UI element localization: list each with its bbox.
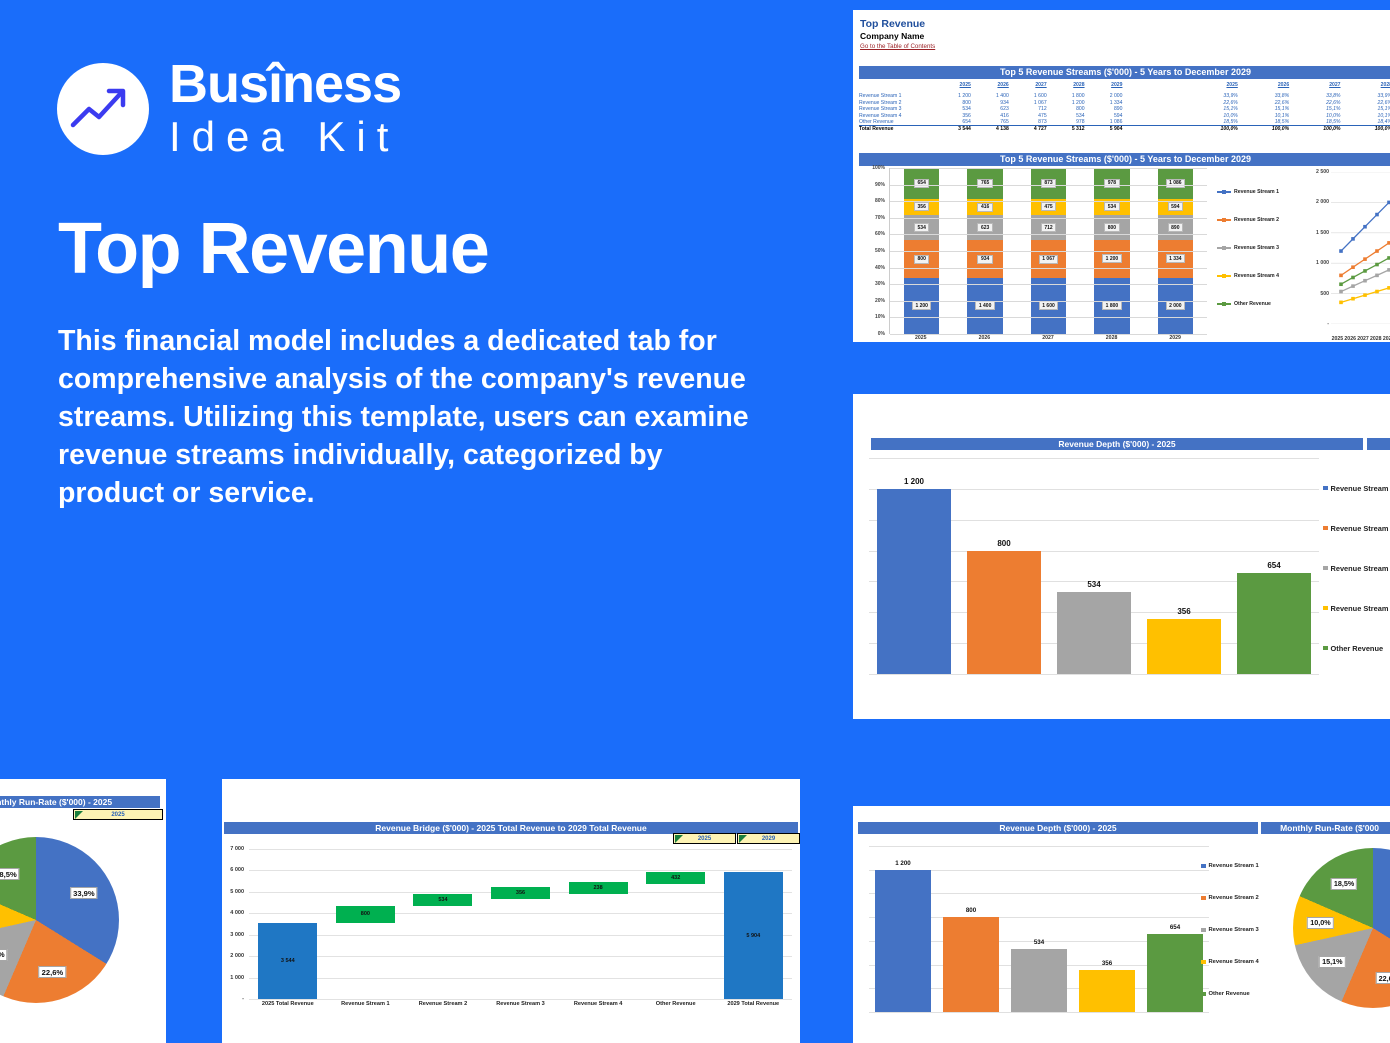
bridge-x-tick: Other Revenue xyxy=(637,1001,715,1007)
pie-data-label: 10,0% xyxy=(1307,917,1333,929)
legend-label: Other Revenue xyxy=(1209,991,1250,997)
data-label: 356 xyxy=(1102,960,1112,967)
data-label: 432 xyxy=(671,875,680,881)
line-x-tick: 2029 xyxy=(1382,336,1390,342)
data-label: 1 200 xyxy=(1102,254,1122,263)
gridline xyxy=(890,301,1207,302)
legend-item: Revenue Stream 1 xyxy=(1217,189,1303,195)
bridge-column: 534 xyxy=(404,849,482,999)
line-marker xyxy=(1363,279,1367,283)
legend-item: Revenue Stream 3 xyxy=(1217,245,1303,251)
slide-canvas: Busîness Idea Kit Top Revenue This finan… xyxy=(0,0,1390,1043)
legend-label: Revenue Stream 1 xyxy=(1234,189,1279,195)
pie-data-label: 15,1% xyxy=(1319,956,1345,968)
bar xyxy=(1147,934,1203,1012)
legend-swatch xyxy=(1201,928,1206,933)
legend-item: Other Revenue xyxy=(1323,644,1390,653)
monthly-runrate-left-panel: Monthly Run-Rate ($'000) - 2025 2025 33,… xyxy=(0,779,166,1043)
stacked-y-axis: 0%10%20%30%40%50%60%70%80%90%100% xyxy=(859,168,887,342)
runrate-right-pie: 33,9%22,6%15,1%10,0%18,5% xyxy=(1293,848,1390,1008)
bridge-y-tick: 1 000 xyxy=(222,975,244,981)
legend-swatch xyxy=(1201,960,1206,965)
gridline xyxy=(890,317,1207,318)
bridge-y-tick: 3 000 xyxy=(222,932,244,938)
bar-column: 654 xyxy=(1229,458,1319,674)
bar xyxy=(1079,970,1135,1012)
bar-column: 1 200 xyxy=(869,846,937,1012)
legend-label: Revenue Stream 2 xyxy=(1209,895,1259,901)
stacked-segment: 1 086 xyxy=(1158,168,1194,199)
bridge-y-tick: 2 000 xyxy=(222,953,244,959)
trend-line-chart: -5001 0001 5002 0002 500 202520262027202… xyxy=(1305,168,1390,342)
year-selector-left[interactable]: 2025 xyxy=(73,809,163,820)
chart-band-title: Top 5 Revenue Streams ($'000) - 5 Years … xyxy=(859,153,1390,166)
bar xyxy=(1011,949,1067,1012)
data-label: 800 xyxy=(1104,223,1119,232)
stacked-bar-chart: 0%10%20%30%40%50%60%70%80%90%100% 654356… xyxy=(859,168,1211,342)
stacked-segment: 1 200 xyxy=(1094,240,1130,277)
table-of-contents-link[interactable]: Go to the Table of Contents xyxy=(860,43,935,50)
stacked-y-tick: 30% xyxy=(875,281,885,287)
stacked-segment: 934 xyxy=(967,240,1003,277)
data-label: 800 xyxy=(997,539,1010,548)
stacked-x-tick: 2028 xyxy=(1080,335,1144,342)
page-description: This financial model includes a dedicate… xyxy=(58,322,758,512)
stacked-y-tick: 40% xyxy=(875,265,885,271)
stacked-x-tick: 2026 xyxy=(953,335,1017,342)
revenue-depth-panel: Revenue Depth ($'000) - 2025 1 200800534… xyxy=(853,394,1390,719)
stacked-segment: 890 xyxy=(1158,215,1194,240)
revenue-depth-legend: Revenue Stream 1Revenue Stream 2Revenue … xyxy=(1323,468,1390,668)
runrate-left-title: Monthly Run-Rate ($'000) - 2025 xyxy=(0,796,160,808)
data-label: 1 067 xyxy=(1039,255,1059,264)
bridge-delta-bar: 800 xyxy=(336,906,395,923)
legend-item: Revenue Stream 3 xyxy=(1201,927,1277,933)
bridge-y-tick: 5 000 xyxy=(222,889,244,895)
gridline xyxy=(869,1012,1209,1013)
bridge-y-tick: - xyxy=(222,996,244,1002)
bridge-total-bar: 5 904 xyxy=(724,872,783,999)
runrate-left-pie: 33,9%22,6%15,1%10,0%18,5% xyxy=(0,837,119,1003)
stacked-y-tick: 80% xyxy=(875,198,885,204)
revenue-depth-title: Revenue Depth ($'000) - 2025 xyxy=(871,438,1363,450)
legend-marker xyxy=(1217,275,1231,276)
line-marker xyxy=(1375,274,1379,278)
stacked-segment: 978 xyxy=(1094,168,1130,199)
line-marker xyxy=(1363,293,1367,297)
legend-swatch xyxy=(1323,526,1328,531)
pie-data-label: 18,5% xyxy=(0,868,20,880)
legend-item: Revenue Stream 2 xyxy=(1201,895,1277,901)
gridline xyxy=(890,168,1207,169)
stacked-segment: 2 000 xyxy=(1158,278,1194,334)
data-label: 1 334 xyxy=(1166,254,1186,263)
spreadsheet-panel: Top Revenue Company Name Go to the Table… xyxy=(853,10,1390,342)
bridge-x-axis: 2025 Total RevenueRevenue Stream 1Revenu… xyxy=(249,1001,792,1007)
table-row: Other Revenue 654 765 873 978 1 086 18,5… xyxy=(859,119,1390,126)
bridge-column: 238 xyxy=(559,849,637,999)
gridline xyxy=(890,284,1207,285)
line-y-tick: 1 500 xyxy=(1305,230,1329,236)
data-label: 534 xyxy=(1034,939,1044,946)
line-marker xyxy=(1351,276,1355,280)
data-label: 1 200 xyxy=(912,301,932,310)
data-label: 800 xyxy=(966,907,976,914)
title-band-tail xyxy=(1367,438,1390,450)
gridline xyxy=(890,234,1207,235)
line-marker xyxy=(1339,274,1343,278)
line-marker xyxy=(1351,284,1355,288)
line-marker xyxy=(1339,282,1343,286)
runrate-right-title: Monthly Run-Rate ($'000 xyxy=(1261,822,1390,834)
bar-column: 800 xyxy=(959,458,1049,674)
stacked-segment: 1 400 xyxy=(967,278,1003,334)
legend-item: Revenue Stream 4 xyxy=(1201,959,1277,965)
gridline xyxy=(890,218,1207,219)
bar xyxy=(877,489,951,674)
line-x-tick: 2025 xyxy=(1331,336,1344,342)
bridge-x-tick: Revenue Stream 4 xyxy=(559,1001,637,1007)
stacked-plot-area: 6543565348001 2007654166239341 400873475… xyxy=(889,168,1207,334)
line-marker xyxy=(1363,225,1367,229)
bar-column: 800 xyxy=(937,846,1005,1012)
legend-swatch xyxy=(1323,566,1328,571)
data-label: 934 xyxy=(977,255,992,264)
data-label: 654 xyxy=(914,179,929,188)
bar xyxy=(875,870,931,1012)
legend-marker xyxy=(1217,303,1231,304)
line-marker xyxy=(1363,257,1367,261)
pie-data-label: 22,6% xyxy=(39,966,67,978)
data-label: 890 xyxy=(1168,223,1183,232)
data-label: 5 904 xyxy=(746,933,760,939)
line-marker xyxy=(1351,237,1355,241)
data-label: 978 xyxy=(1104,179,1119,188)
data-label: 654 xyxy=(1170,924,1180,931)
line-marker xyxy=(1351,265,1355,269)
stacked-x-axis: 20252026202720282029 xyxy=(889,335,1207,342)
stacked-y-tick: 100% xyxy=(872,165,885,171)
line-marker xyxy=(1339,249,1343,253)
table-total-row: Total Revenue 3 544 4 138 4 727 5 312 5 … xyxy=(859,126,1390,133)
stacked-segment: 873 xyxy=(1031,168,1067,199)
stacked-segment: 623 xyxy=(967,215,1003,240)
bar-column: 1 200 xyxy=(869,458,959,674)
data-label: 534 xyxy=(1104,202,1119,211)
sheet-title: Top Revenue xyxy=(860,18,925,30)
bridge-x-tick: Revenue Stream 3 xyxy=(482,1001,560,1007)
stacked-segment: 1 800 xyxy=(1094,278,1130,334)
data-label: 800 xyxy=(914,255,929,264)
line-marker xyxy=(1351,297,1355,301)
brand-lockup: Busîness Idea Kit xyxy=(57,57,401,161)
data-label: 416 xyxy=(977,203,992,212)
data-label: 356 xyxy=(914,202,929,211)
legend-item: Other Revenue xyxy=(1201,991,1277,997)
legend-item: Revenue Stream 1 xyxy=(1323,484,1390,493)
legend-marker xyxy=(1217,191,1231,192)
data-label: 1 400 xyxy=(975,301,995,310)
line-x-tick: 2028 xyxy=(1369,336,1382,342)
stacked-segment: 534 xyxy=(904,215,940,240)
gridline xyxy=(890,268,1207,269)
gridline xyxy=(869,674,1319,675)
legend-label: Revenue Stream 3 xyxy=(1331,564,1390,573)
legend-label: Other Revenue xyxy=(1234,301,1271,307)
data-label: 356 xyxy=(1177,607,1190,616)
bar xyxy=(967,551,1041,674)
legend-swatch xyxy=(1201,896,1206,901)
revenue-depth-plot: 1 200800534356654 xyxy=(869,458,1319,674)
stacked-x-tick: 2029 xyxy=(1143,335,1207,342)
data-label: 1 200 xyxy=(895,860,910,867)
growth-arrow-chart-icon xyxy=(69,75,137,143)
data-label: 1 800 xyxy=(1102,301,1122,310)
line-y-tick: 500 xyxy=(1305,291,1329,297)
legend-marker xyxy=(1217,219,1231,220)
bar-column: 356 xyxy=(1073,846,1141,1012)
bridge-delta-bar: 356 xyxy=(491,887,550,899)
legend-marker xyxy=(1217,247,1231,248)
brand-tagline: Idea Kit xyxy=(169,113,401,161)
revenue-depth-small-title: Revenue Depth ($'000) - 2025 xyxy=(858,822,1258,834)
line-y-tick: 2 000 xyxy=(1305,199,1329,205)
bar xyxy=(1147,619,1221,674)
bar xyxy=(943,917,999,1012)
data-label: 765 xyxy=(977,179,992,188)
legend-label: Revenue Stream 3 xyxy=(1234,245,1279,251)
stacked-segment: 1 334 xyxy=(1158,240,1194,278)
bridge-x-tick: 2029 Total Revenue xyxy=(714,1001,792,1007)
brand-name: Busîness xyxy=(169,57,401,111)
data-label: 2 000 xyxy=(1166,301,1186,310)
revenue-depth-runrate-panel: Revenue Depth ($'000) - 2025 Monthly Run… xyxy=(853,806,1390,1043)
legend-label: Other Revenue xyxy=(1331,644,1384,653)
bridge-column: 356 xyxy=(482,849,560,999)
legend-label: Revenue Stream 4 xyxy=(1234,273,1279,279)
data-label: 800 xyxy=(361,911,370,917)
bar xyxy=(1237,573,1311,674)
stacked-segment: 1 200 xyxy=(904,278,940,334)
logo-circle xyxy=(57,63,149,155)
page-title: Top Revenue xyxy=(58,208,488,290)
data-label: 534 xyxy=(438,897,447,903)
data-label: 654 xyxy=(1267,561,1280,570)
legend-label: Revenue Stream 4 xyxy=(1209,959,1259,965)
line-marker xyxy=(1375,213,1379,217)
legend-item: Revenue Stream 4 xyxy=(1323,604,1390,613)
line-marker xyxy=(1375,263,1379,267)
sheet-company: Company Name xyxy=(860,31,924,41)
stacked-y-tick: 20% xyxy=(875,298,885,304)
line-marker xyxy=(1375,290,1379,294)
stacked-segment: 1 067 xyxy=(1031,240,1067,277)
stacked-x-tick: 2025 xyxy=(889,335,953,342)
stacked-chart-legend: Revenue Stream 1Revenue Stream 2Revenue … xyxy=(1217,178,1303,318)
revenue-depth-small-legend: Revenue Stream 1Revenue Stream 2Revenue … xyxy=(1201,850,1277,1010)
revenue-depth-small-plot: 1 200800534356654 xyxy=(869,846,1209,1012)
gridline xyxy=(890,251,1207,252)
bridge-x-tick: Revenue Stream 1 xyxy=(327,1001,405,1007)
pie-data-label: 15,1% xyxy=(0,949,8,961)
data-label: 1 086 xyxy=(1166,179,1186,188)
stacked-y-tick: 10% xyxy=(875,314,885,320)
legend-item: Revenue Stream 3 xyxy=(1323,564,1390,573)
bar-column: 356 xyxy=(1139,458,1229,674)
legend-item: Revenue Stream 2 xyxy=(1323,524,1390,533)
data-label: 534 xyxy=(1087,580,1100,589)
bridge-delta-bar: 432 xyxy=(646,872,705,884)
table-band-title: Top 5 Revenue Streams ($'000) - 5 Years … xyxy=(859,66,1390,79)
legend-label: Revenue Stream 1 xyxy=(1209,863,1259,869)
bridge-column: 5 904 xyxy=(714,849,792,999)
bar-column: 654 xyxy=(1141,846,1209,1012)
bridge-column: 432 xyxy=(637,849,715,999)
legend-label: Revenue Stream 4 xyxy=(1331,604,1390,613)
pie-data-label: 22,6% xyxy=(1376,972,1390,984)
data-label: 238 xyxy=(594,885,603,891)
line-marker xyxy=(1339,301,1343,305)
data-label: 623 xyxy=(977,223,992,232)
line-y-tick: 1 000 xyxy=(1305,260,1329,266)
data-label: 1 600 xyxy=(1039,301,1059,310)
legend-swatch xyxy=(1201,864,1206,869)
legend-item: Revenue Stream 4 xyxy=(1217,273,1303,279)
bridge-delta-bar: 534 xyxy=(413,894,472,906)
bridge-y-tick: 7 000 xyxy=(222,846,244,852)
stacked-y-tick: 0% xyxy=(878,331,885,337)
data-label: 594 xyxy=(1168,202,1183,211)
stacked-y-tick: 50% xyxy=(875,248,885,254)
data-label: 712 xyxy=(1041,223,1056,232)
line-x-tick: 2026 xyxy=(1344,336,1357,342)
stacked-segment: 654 xyxy=(904,168,940,199)
revenue-table: 2025 2026 2027 2028 2029 2025 2026 2027 … xyxy=(859,82,1390,133)
stacked-y-tick: 90% xyxy=(875,182,885,188)
data-label: 1 200 xyxy=(904,477,924,486)
line-plot-area xyxy=(1331,172,1390,324)
line-y-tick: - xyxy=(1305,321,1329,327)
revenue-bridge-plot: -1 0002 0003 0004 0005 0006 0007 000 3 5… xyxy=(222,839,800,1014)
bridge-x-tick: 2025 Total Revenue xyxy=(249,1001,327,1007)
bar-column: 534 xyxy=(1005,846,1073,1012)
line-marker xyxy=(1339,290,1343,294)
data-label: 475 xyxy=(1041,202,1056,211)
legend-item: Revenue Stream 2 xyxy=(1217,217,1303,223)
revenue-bridge-panel: Revenue Bridge ($'000) - 2025 Total Reve… xyxy=(222,779,800,1043)
legend-swatch xyxy=(1323,486,1328,491)
legend-item: Other Revenue xyxy=(1217,301,1303,307)
data-label: 356 xyxy=(516,890,525,896)
gridline xyxy=(890,201,1207,202)
stacked-segment: 765 xyxy=(967,168,1003,199)
pie-data-label: 33,9% xyxy=(70,887,98,899)
stacked-segment: 1 600 xyxy=(1031,278,1067,334)
stacked-segment: 712 xyxy=(1031,215,1067,240)
bridge-column: 3 544 xyxy=(249,849,327,999)
legend-label: Revenue Stream 1 xyxy=(1331,484,1390,493)
bridge-column: 800 xyxy=(327,849,405,999)
stacked-y-tick: 70% xyxy=(875,215,885,221)
line-x-tick: 2027 xyxy=(1357,336,1370,342)
bridge-y-tick: 4 000 xyxy=(222,910,244,916)
stacked-y-tick: 60% xyxy=(875,231,885,237)
gridline xyxy=(249,999,792,1000)
bridge-x-tick: Revenue Stream 2 xyxy=(404,1001,482,1007)
gridline xyxy=(890,185,1207,186)
legend-swatch xyxy=(1323,646,1328,651)
legend-swatch xyxy=(1201,992,1206,997)
bridge-delta-bar: 238 xyxy=(569,882,628,894)
bridge-y-tick: 6 000 xyxy=(222,867,244,873)
stacked-segment: 800 xyxy=(904,240,940,277)
line-x-axis: 20252026202720282029 xyxy=(1331,336,1390,342)
line-y-tick: 2 500 xyxy=(1305,169,1329,175)
data-label: 873 xyxy=(1041,179,1056,188)
line-marker xyxy=(1375,249,1379,253)
data-label: 534 xyxy=(914,223,929,232)
bar xyxy=(1057,592,1131,674)
bridge-total-bar: 3 544 xyxy=(258,923,317,999)
stacked-x-tick: 2027 xyxy=(1016,335,1080,342)
line-marker xyxy=(1363,269,1367,273)
bar-column: 534 xyxy=(1049,458,1139,674)
legend-item: Revenue Stream 1 xyxy=(1201,863,1277,869)
legend-swatch xyxy=(1323,606,1328,611)
legend-label: Revenue Stream 2 xyxy=(1331,524,1390,533)
stacked-segment: 800 xyxy=(1094,215,1130,240)
data-label: 3 544 xyxy=(281,958,295,964)
legend-label: Revenue Stream 2 xyxy=(1234,217,1279,223)
legend-label: Revenue Stream 3 xyxy=(1209,927,1259,933)
pie-data-label: 18,5% xyxy=(1331,878,1357,890)
